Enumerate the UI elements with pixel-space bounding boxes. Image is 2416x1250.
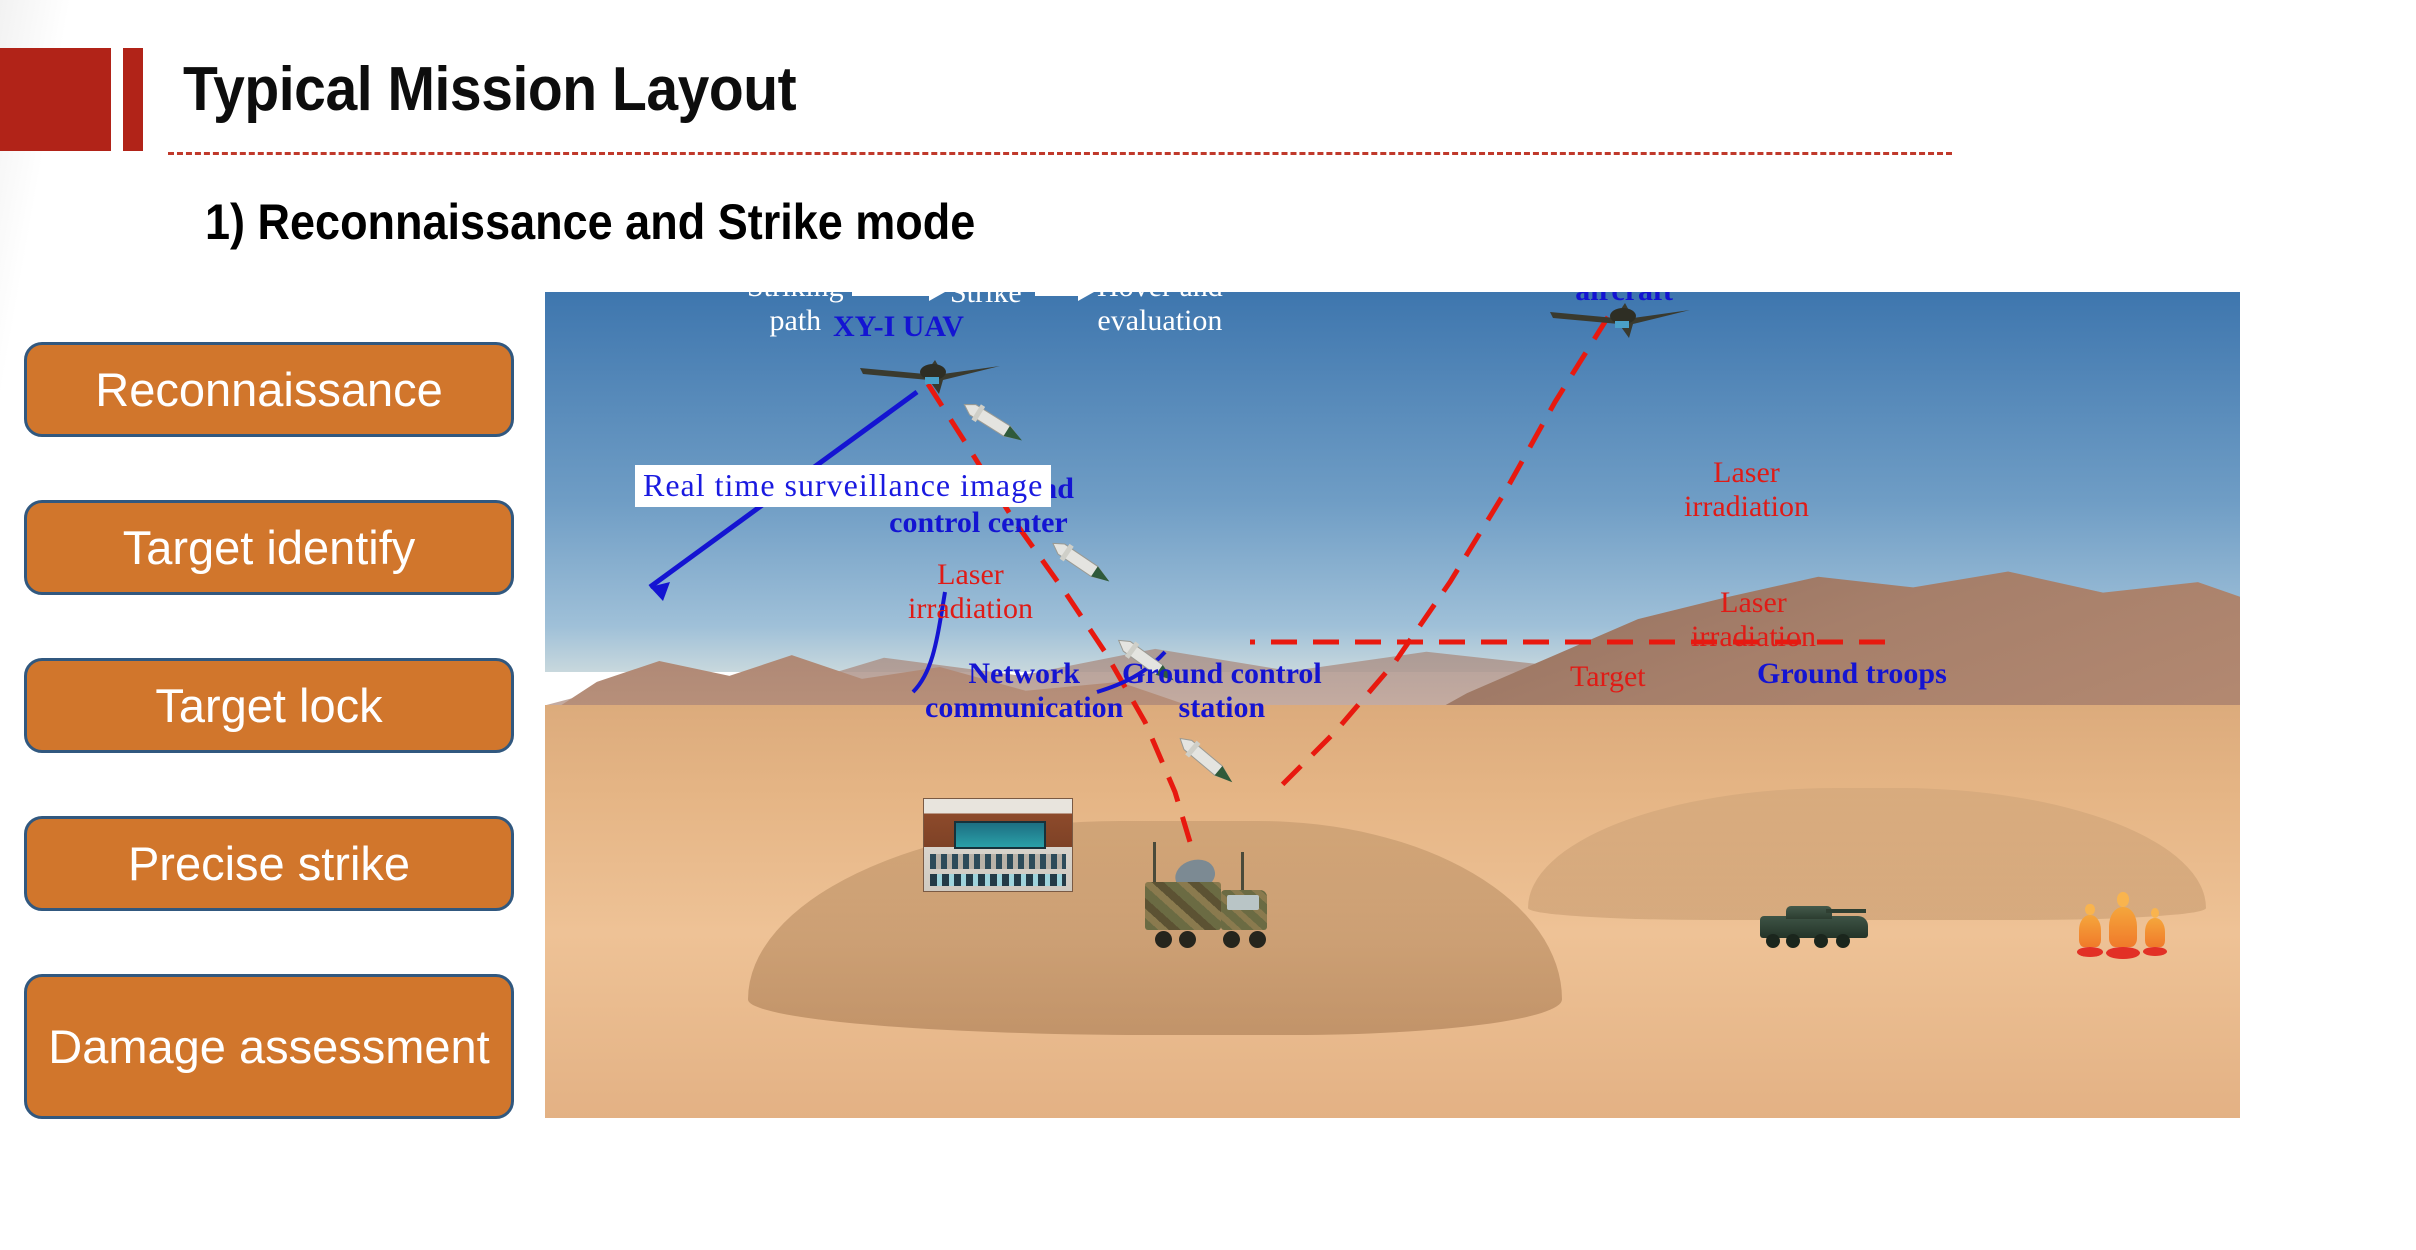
ground-troops-group — [2077, 890, 2173, 948]
troop-icon-1 — [2079, 904, 2101, 948]
troop-body-3 — [2145, 918, 2165, 947]
label-ground-control-station: Ground control station — [1122, 657, 1322, 724]
xy-i-uav-icon — [855, 350, 1005, 402]
flow-arrow-2-head — [1078, 292, 1094, 301]
step-button-target-lock[interactable]: Target lock — [24, 658, 514, 753]
mission-step-list: Reconnaissance Target identify Target lo… — [24, 342, 514, 1119]
page-title: Typical Mission Layout — [183, 54, 796, 125]
troop-icon-2 — [2109, 892, 2137, 948]
label-target: Target — [1570, 660, 1646, 694]
label-strike: Strike — [950, 292, 1022, 310]
troop-head-1 — [2085, 904, 2094, 915]
label-network-communication: Network communication — [925, 657, 1123, 724]
target-wheel-3 — [1814, 934, 1828, 948]
slide-subtitle: 1) Reconnaissance and Strike mode — [205, 193, 975, 251]
flow-arrow-2-line — [1035, 292, 1079, 296]
step-button-target-identify[interactable]: Target identify — [24, 500, 514, 595]
title-accent-block — [0, 48, 111, 151]
troop-head-3 — [2151, 908, 2159, 918]
troop-head-2 — [2117, 892, 2129, 907]
target-vehicle-icon — [1760, 904, 1868, 948]
command-center-seating-front — [930, 854, 1066, 869]
command-center-seating-back — [930, 874, 1066, 886]
flow-arrow-1-line — [852, 292, 930, 296]
truck-wheel-4 — [1249, 931, 1266, 948]
title-accent-bar — [123, 48, 143, 151]
label-xy-i-uav: XY-I UAV — [833, 310, 964, 344]
target-wheel-1 — [1766, 934, 1780, 948]
truck-shelter — [1145, 882, 1221, 930]
label-laser-irradiation-bottom: Laser irradiation — [1691, 586, 1816, 653]
truck-wheel-1 — [1155, 931, 1172, 948]
antenna-mast-right — [1241, 852, 1244, 892]
flow-arrow-1-head — [929, 292, 945, 301]
target-wheel-4 — [1836, 934, 1850, 948]
target-gun — [1826, 909, 1866, 913]
troop-icon-3 — [2145, 908, 2165, 948]
command-center-screen — [954, 821, 1047, 849]
command-center-photo — [923, 798, 1073, 892]
target-wheel-2 — [1786, 934, 1800, 948]
truck-windshield — [1227, 895, 1259, 910]
title-divider — [168, 152, 1952, 155]
label-striking-path: Striking path — [747, 292, 844, 337]
step-button-precise-strike[interactable]: Precise strike — [24, 816, 514, 911]
troop-base-3 — [2143, 947, 2167, 956]
antenna-mast-left — [1153, 842, 1156, 886]
troop-body-2 — [2109, 907, 2137, 947]
mission-scene-image: Striking path Strike Hover and evaluatio… — [545, 292, 2240, 1118]
label-laser-irradiation-center: Laser irradiation — [908, 558, 1033, 625]
step-button-damage-assessment[interactable]: Damage assessment — [24, 974, 514, 1119]
label-hover-and-evaluation: Hover and evaluation — [1097, 292, 1223, 337]
truck-wheel-3 — [1223, 931, 1240, 948]
truck-wheel-2 — [1179, 931, 1196, 948]
label-laser-irradiation-right: Laser irradiation — [1684, 456, 1809, 523]
troop-body-1 — [2079, 915, 2101, 947]
step-button-reconnaissance[interactable]: Reconnaissance — [24, 342, 514, 437]
label-ground-troops: Ground troops — [1757, 657, 1947, 691]
troop-base-1 — [2077, 947, 2103, 957]
label-surveillance-aircraft: Surveillance aircraft — [1545, 292, 1703, 307]
ground-control-station-vehicle — [1145, 860, 1285, 950]
troop-base-2 — [2106, 947, 2140, 959]
label-real-time-surveillance-image: Real time surveillance image — [635, 465, 1051, 507]
